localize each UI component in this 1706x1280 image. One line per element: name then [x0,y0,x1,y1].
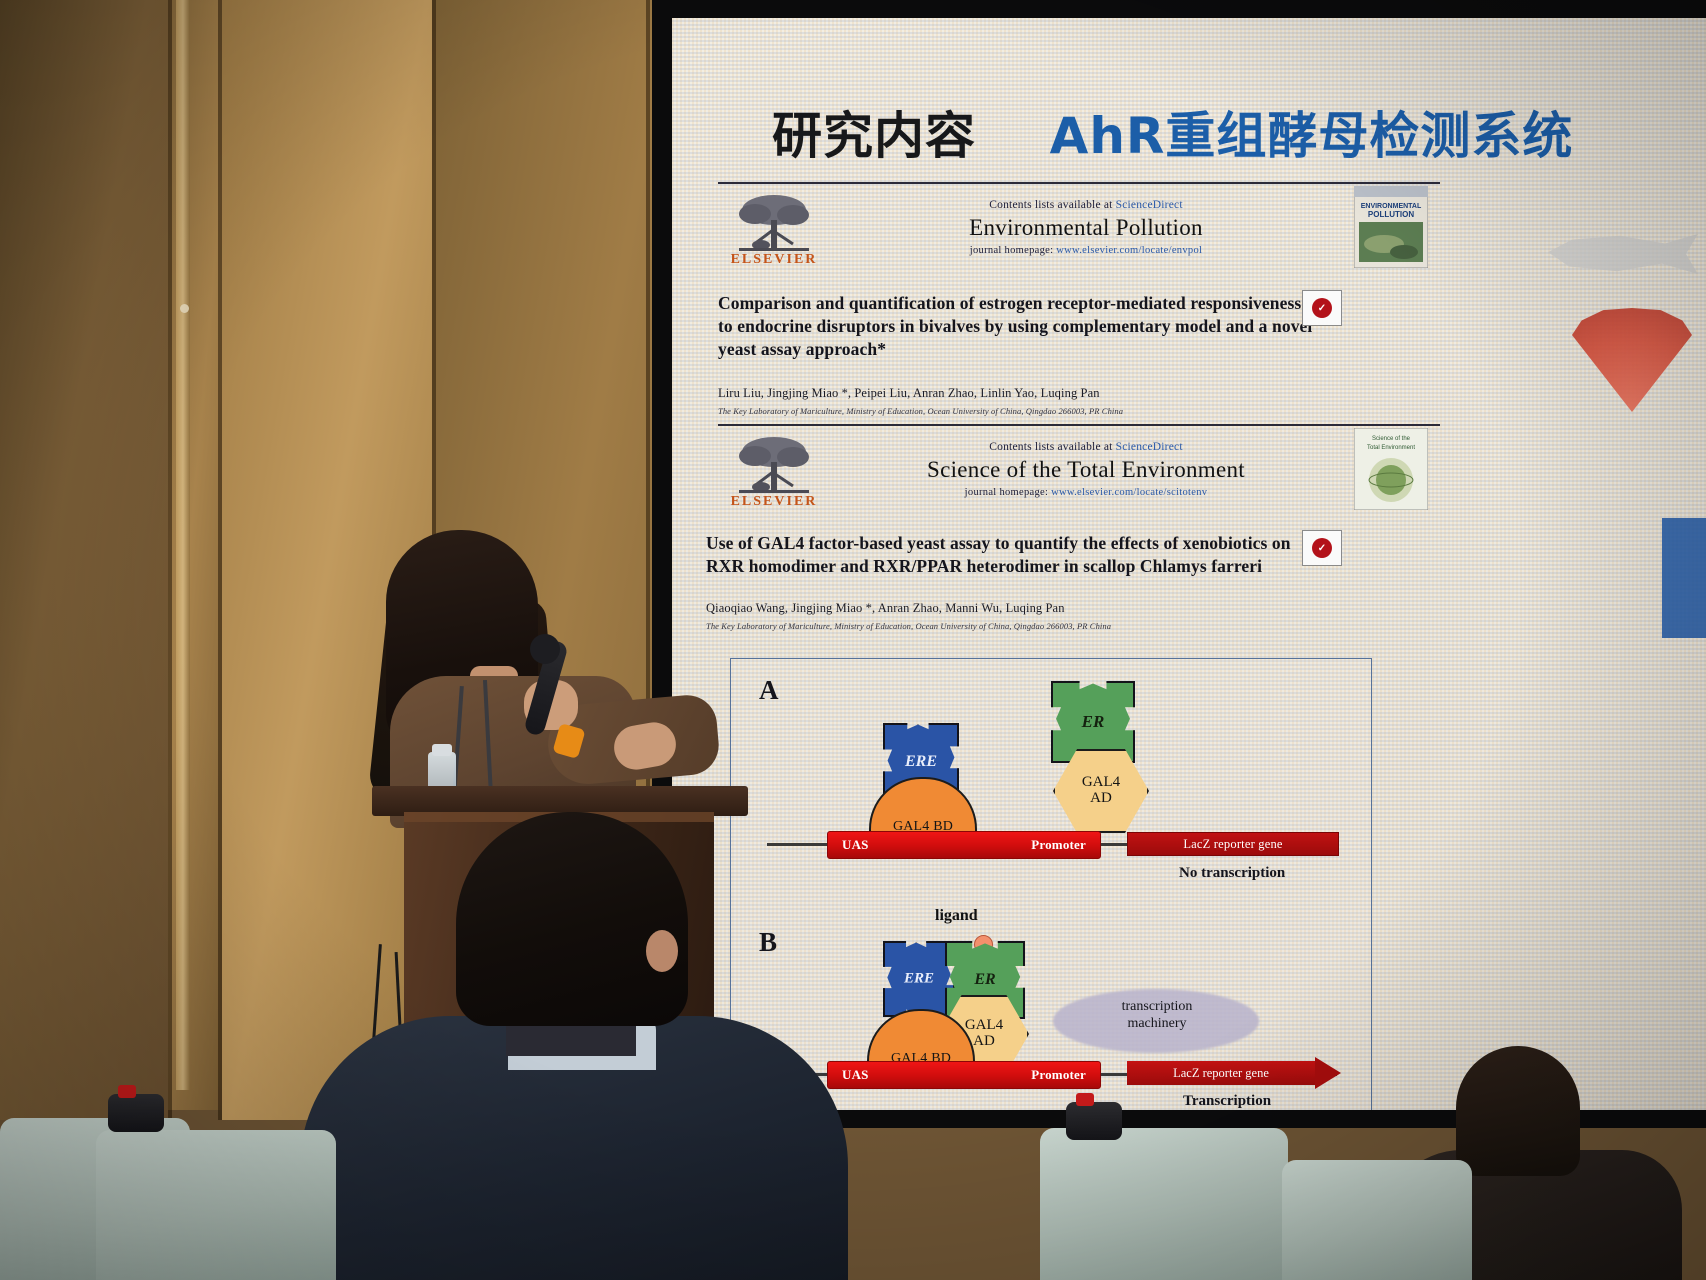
article-affiliation-1: The Key Laboratory of Mariculture, Minis… [718,406,1123,416]
audience-member-2-head [1456,1046,1580,1176]
panel-b-caption: Transcription [1183,1093,1271,1110]
article-affiliation-2: The Key Laboratory of Mariculture, Minis… [706,621,1111,631]
journal-cover-image-1: ENVIRONMENTAL POLLUTION [1354,186,1428,268]
uas-label-b: UAS [842,1067,869,1083]
lacz-arrow-body: LacZ reporter gene [1127,1061,1315,1085]
gal4-ad-line2-a: AD [1090,791,1112,807]
panel-a-caption: No transcription [1179,865,1285,882]
svg-text:POLLUTION: POLLUTION [1368,210,1414,219]
audience-member-ear [646,930,678,972]
lacz-label-a: LacZ reporter gene [1183,837,1282,852]
elsevier-tree-icon-2 [731,432,817,494]
homepage-label-1: journal homepage: [970,245,1054,256]
gal4-ad-line1-b: GAL4 [965,1018,1003,1034]
panel-b-letter: B [759,927,777,958]
article-authors-2: Qiaoqiao Wang, Jingjing Miao *, Anran Zh… [706,601,1065,616]
slide-edge-blue-block [1662,518,1706,638]
transcription-machinery-text: transcription machinery [1059,999,1255,1033]
article-title-1: Comparison and quantification of estroge… [718,292,1318,361]
journal-name-1: Environmental Pollution [969,215,1203,241]
promoter-label-b: Promoter [1031,1067,1086,1083]
crossmark-badge-1: ✓ [1302,290,1342,326]
contents-label-1: Contents lists available at [989,199,1112,211]
journal-homepage-1: journal homepage: www.elsevier.com/locat… [970,245,1202,256]
conference-photo: 研究内容 AhR重组酵母检测系统 ELSEVIER [0,0,1706,1280]
fish-photo-decoration [1548,230,1698,278]
chair-right-2 [1282,1160,1472,1280]
wall-fixture-dot [180,304,189,313]
svg-text:Science of the: Science of the [1372,436,1411,442]
ere-label-b: ERE [885,971,953,988]
slide-title-blue: AhR重组酵母检测系统 [1050,107,1574,165]
lacz-arrow-head [1315,1057,1341,1089]
svg-text:Total Environment: Total Environment [1367,445,1415,451]
crossmark-icon-1: ✓ [1312,298,1332,318]
promoter-label-a: Promoter [1031,837,1086,853]
contents-label-2: Contents lists available at [989,441,1112,453]
lacz-reporter-bar-a: LacZ reporter gene [1127,832,1339,856]
contents-lists-line-1: Contents lists available at ScienceDirec… [989,199,1182,211]
gal4-ad-line2-b: AD [973,1034,995,1050]
slide-title: 研究内容 AhR重组酵母检测系统 [772,96,1573,168]
homepage-label-2: journal homepage: [965,487,1049,498]
audience-member-head [456,812,688,1026]
crossmark-badge-2: ✓ [1302,530,1342,566]
svg-text:ENVIRONMENTAL: ENVIRONMENTAL [1361,203,1422,210]
wall-left-panel [0,0,172,1120]
wall-decorative-strip [176,0,190,1090]
journal-meta-1: Contents lists available at ScienceDirec… [830,184,1342,270]
journal-meta-2: Contents lists available at ScienceDirec… [830,426,1342,512]
chair-right [1040,1128,1288,1280]
ere-label-a: ERE [885,753,957,771]
elsevier-tree-icon [731,190,817,252]
journal-homepage-2: journal homepage: www.elsevier.com/locat… [965,487,1208,498]
sciencedirect-link-1[interactable]: ScienceDirect [1116,199,1183,211]
panel-a-letter: A [759,675,779,706]
projection-screen: 研究内容 AhR重组酵母检测系统 ELSEVIER [672,18,1706,1110]
slide-title-black: 研究内容 [772,107,976,165]
journal-header-environmental-pollution: ELSEVIER Contents lists available at Sci… [718,182,1440,270]
homepage-url-1[interactable]: www.elsevier.com/locate/envpol [1056,245,1202,256]
scallop-shell-photo [1572,308,1692,412]
uas-promoter-bar-b: UAS Promoter [827,1061,1101,1089]
journal-header-science-total-environment: ELSEVIER Contents lists available at Sci… [718,424,1440,512]
machinery-line2: machinery [1059,1016,1255,1033]
article-authors-1: Liru Liu, Jingjing Miao *, Peipei Liu, A… [718,386,1100,401]
elsevier-wordmark-2: ELSEVIER [731,494,818,510]
elsevier-logo-2: ELSEVIER [718,426,830,512]
slide-content: 研究内容 AhR重组酵母检测系统 ELSEVIER [672,18,1706,1110]
contents-lists-line-2: Contents lists available at ScienceDirec… [989,441,1182,453]
journal-cover-1: ENVIRONMENTAL POLLUTION [1342,184,1440,270]
sciencedirect-link-2[interactable]: ScienceDirect [1116,441,1183,453]
chair-left-2 [96,1130,336,1280]
journal-cover-image-2: Science of the Total Environment [1354,428,1428,510]
elsevier-logo-1: ELSEVIER [718,184,830,270]
chair-headrest-knob-left [108,1094,164,1132]
lacz-label-b: LacZ reporter gene [1173,1066,1269,1081]
uas-label-a: UAS [842,837,869,853]
elsevier-wordmark-1: ELSEVIER [731,252,818,268]
lacz-reporter-arrow-b: LacZ reporter gene [1127,1061,1341,1085]
article-title-2: Use of GAL4 factor-based yeast assay to … [706,532,1316,578]
ligand-label-b: ligand [935,907,978,925]
er-label-a: ER [1053,712,1133,732]
journal-name-2: Science of the Total Environment [927,457,1245,483]
gal4-ad-line1-a: GAL4 [1082,775,1120,791]
journal-cover-2: Science of the Total Environment [1342,426,1440,512]
machinery-line1: transcription [1059,999,1255,1016]
water-bottle-cap [432,744,452,756]
crossmark-icon-2: ✓ [1312,538,1332,558]
ere-puzzle-piece-b: ERE [883,941,955,1017]
microphone-head [530,634,560,664]
uas-promoter-bar-a: UAS Promoter [827,831,1101,859]
wall-seam-1 [168,0,172,1120]
homepage-url-2[interactable]: www.elsevier.com/locate/scitotenv [1051,487,1207,498]
er-label-b: ER [947,971,1023,989]
figure-panel: A ERE ER GAL4 AD GAL4 BD [730,658,1372,1110]
wall-seam-2 [218,0,222,1120]
chair-headrest-knob-right [1066,1102,1122,1140]
